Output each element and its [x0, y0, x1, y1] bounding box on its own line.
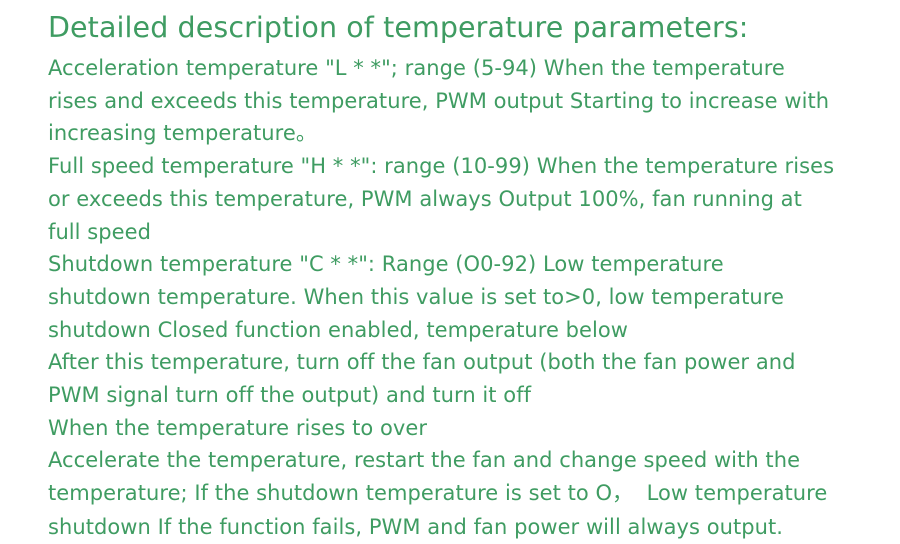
text-line: When the temperature rises to over	[48, 412, 880, 445]
text-line: Acceleration temperature "L * *"; range …	[48, 52, 880, 85]
text-line: full speed	[48, 216, 880, 249]
page-title: Detailed description of temperature para…	[48, 8, 880, 48]
text-line: increasing temperature。	[48, 117, 880, 150]
paragraph-temperature-rises-over: When the temperature rises to over	[48, 412, 880, 445]
paragraph-shutdown-temperature: Shutdown temperature "C * *": Range (O0-…	[48, 248, 880, 346]
text-line: Full speed temperature "H * *": range (1…	[48, 150, 880, 183]
text-line: rises and exceeds this temperature, PWM …	[48, 85, 880, 118]
text-line: PWM signal turn off the output) and turn…	[48, 379, 880, 412]
text-line: shutdown temperature. When this value is…	[48, 281, 880, 314]
text-line: shutdown Closed function enabled, temper…	[48, 314, 880, 347]
text-line: Accelerate the temperature, restart the …	[48, 444, 880, 477]
paragraph-restart-and-failure: Accelerate the temperature, restart the …	[48, 444, 880, 544]
text-line: temperature; If the shutdown temperature…	[48, 477, 880, 511]
text-line: After this temperature, turn off the fan…	[48, 346, 880, 379]
text-line: shutdown If the function fails, PWM and …	[48, 511, 880, 544]
temperature-parameters-document: Detailed description of temperature para…	[0, 0, 900, 537]
paragraph-full-speed-temperature: Full speed temperature "H * *": range (1…	[48, 150, 880, 248]
paragraph-acceleration-temperature: Acceleration temperature "L * *"; range …	[48, 52, 880, 150]
paragraph-fan-output-off: After this temperature, turn off the fan…	[48, 346, 880, 411]
text-line: or exceeds this temperature, PWM always …	[48, 183, 880, 216]
text-line: Shutdown temperature "C * *": Range (O0-…	[48, 248, 880, 281]
